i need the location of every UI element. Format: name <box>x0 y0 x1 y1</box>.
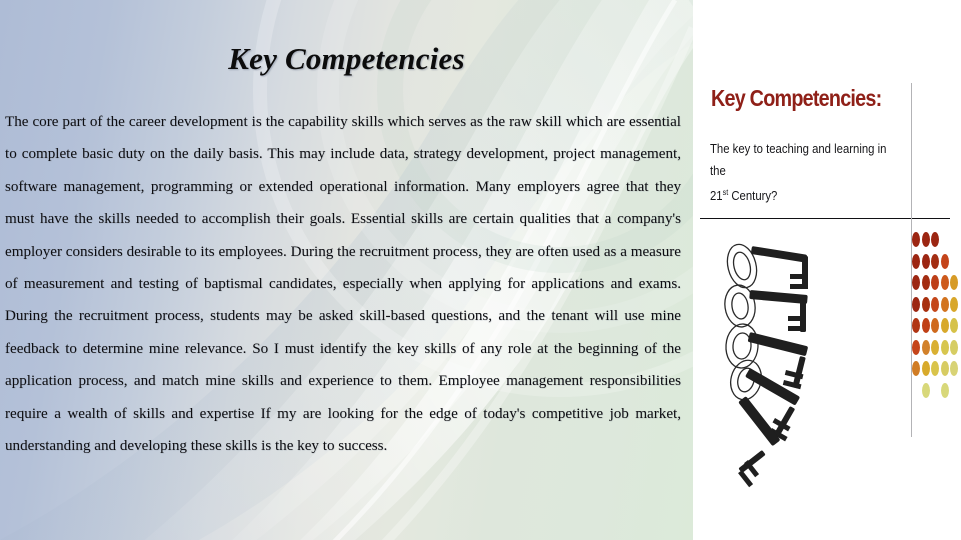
color-dot-empty <box>950 383 958 398</box>
side-image-subtitle: The key to teaching and learning in the … <box>710 138 899 207</box>
color-dot <box>922 318 930 333</box>
color-dot <box>912 232 920 247</box>
color-dot <box>922 361 930 376</box>
presentation-slide: Key Competencies The core part of the ca… <box>0 0 693 540</box>
color-dot <box>931 232 939 247</box>
subtitle-line-1: The key to teaching and learning in the <box>710 142 886 178</box>
color-dot <box>912 361 920 376</box>
color-dot <box>941 297 949 312</box>
subtitle-line-2-suffix: Century? <box>728 189 777 203</box>
color-dot <box>912 275 920 290</box>
color-dot <box>931 254 939 269</box>
color-dot <box>941 254 949 269</box>
slide-body-text: The core part of the career development … <box>5 106 681 462</box>
color-dot-row <box>912 380 961 402</box>
color-dot <box>922 340 930 355</box>
color-dot <box>950 318 958 333</box>
color-dot <box>931 340 939 355</box>
color-dot-row <box>912 337 961 359</box>
color-dot <box>912 297 920 312</box>
color-dot-empty <box>912 383 920 398</box>
skeleton-keys-icon <box>720 228 816 498</box>
color-dot-row <box>912 272 961 294</box>
color-dot <box>931 318 939 333</box>
color-dot <box>941 318 949 333</box>
horizontal-divider <box>700 218 950 219</box>
color-dot <box>922 275 930 290</box>
color-dot <box>912 254 920 269</box>
body-paragraph: The core part of the career development … <box>5 106 681 462</box>
color-dot <box>950 297 958 312</box>
color-dot <box>941 361 949 376</box>
slide-page: Key Competencies The core part of the ca… <box>0 0 961 540</box>
color-dot <box>941 340 949 355</box>
color-dot-row <box>912 294 961 316</box>
color-dot-row <box>912 315 961 337</box>
color-dot <box>931 361 939 376</box>
color-dot <box>950 340 958 355</box>
subtitle-line-2-prefix: 21 <box>710 189 723 203</box>
color-dot-row <box>912 229 961 251</box>
color-dot <box>922 383 930 398</box>
color-dot <box>931 275 939 290</box>
color-dot-row <box>912 358 961 380</box>
color-dot <box>912 340 920 355</box>
side-image-heading: Key Competencies: <box>711 85 881 111</box>
color-dot <box>922 297 930 312</box>
color-dot <box>922 232 930 247</box>
color-dot <box>941 383 949 398</box>
color-dot <box>912 318 920 333</box>
color-dot-row <box>912 251 961 273</box>
color-dot <box>922 254 930 269</box>
page-title: Key Competencies <box>0 40 693 78</box>
color-dot <box>950 275 958 290</box>
color-dot <box>950 361 958 376</box>
color-dot <box>941 275 949 290</box>
color-dot <box>931 297 939 312</box>
color-dot-matrix <box>912 229 961 401</box>
color-dot-empty <box>931 383 939 398</box>
side-image-panel: Key Competencies: The key to teaching an… <box>693 0 961 540</box>
